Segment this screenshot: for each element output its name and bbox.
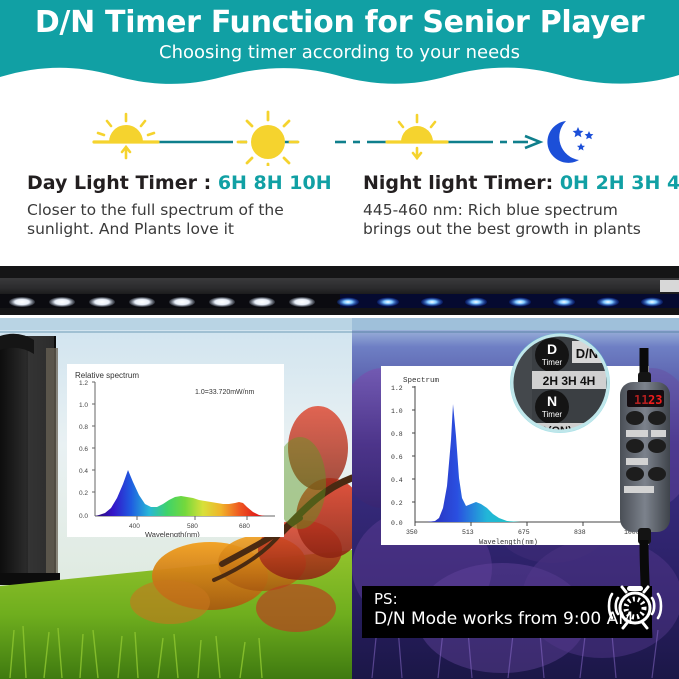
day-timer-heading: Day Light Timer : 6H 8H 10H bbox=[27, 172, 337, 194]
nightlight-aquarium-photo: Spectrum 1.2 1.0 0.8 0.6 0.4 0.2 0.0 bbox=[352, 318, 679, 679]
sun-icon bbox=[238, 112, 298, 166]
day-timer-description: Closer to the full spectrum of the sunli… bbox=[27, 201, 337, 240]
svg-text:0.2: 0.2 bbox=[79, 490, 88, 497]
d-timer-letter: D bbox=[547, 341, 557, 357]
hours-row-label: 2H 3H 4H bbox=[543, 374, 596, 388]
svg-text:838: 838 bbox=[574, 529, 586, 536]
sunset-icon bbox=[387, 115, 447, 158]
n-timer-sublabel: Timer bbox=[542, 410, 562, 419]
n-timer-letter: N bbox=[547, 393, 557, 409]
svg-text:0.0: 0.0 bbox=[79, 513, 88, 520]
x-axis-label: Wavelength(nm) bbox=[479, 539, 538, 545]
svg-text:1.2: 1.2 bbox=[79, 380, 88, 387]
night-timer-heading: Night light Timer: 0H 2H 3H 4H bbox=[363, 172, 668, 194]
night-timer-description: 445-460 nm: Rich blue spectrum brings ou… bbox=[363, 201, 668, 240]
d-timer-sublabel: Timer bbox=[542, 358, 562, 367]
page-title: D/N Timer Function for Senior Player bbox=[0, 5, 679, 40]
svg-text:0.2: 0.2 bbox=[391, 500, 403, 507]
night-timer-hours: 0H 2H 3H 4H bbox=[560, 172, 679, 194]
night-timer-label: Night light Timer: bbox=[363, 172, 560, 194]
night-timer-block: Night light Timer: 0H 2H 3H 4H 445-460 n… bbox=[363, 172, 668, 240]
day-timer-label: Day Light Timer : bbox=[27, 172, 218, 194]
brightness-up-button bbox=[648, 467, 666, 481]
moon-icon bbox=[547, 121, 593, 163]
page-subtitle: Choosing timer according to your needs bbox=[0, 42, 679, 63]
photo-comparison: Relative spectrum 1.0=33.720mW/nm 1.2 1.… bbox=[0, 318, 679, 679]
ps-label: PS: bbox=[374, 590, 398, 608]
led-light-bar bbox=[0, 266, 679, 318]
don-time-chip bbox=[624, 486, 654, 493]
power-button bbox=[626, 411, 644, 425]
svg-text:0.4: 0.4 bbox=[391, 477, 403, 484]
svg-text:350: 350 bbox=[406, 529, 418, 536]
svg-text:580: 580 bbox=[187, 523, 198, 530]
svg-text:1.0: 1.0 bbox=[79, 402, 88, 409]
wave-divider bbox=[0, 63, 679, 92]
svg-text:400: 400 bbox=[129, 523, 140, 530]
svg-text:675: 675 bbox=[518, 529, 530, 536]
day-timer-hours: 6H 8H 10H bbox=[218, 172, 332, 194]
svg-text:513: 513 bbox=[462, 529, 474, 536]
svg-text:1.0: 1.0 bbox=[391, 408, 403, 415]
svg-text:0.6: 0.6 bbox=[391, 454, 403, 461]
svg-text:0.8: 0.8 bbox=[391, 431, 403, 438]
timer-timeline bbox=[0, 100, 679, 166]
svg-text:0.4: 0.4 bbox=[79, 468, 88, 475]
infographic-page: D/N Timer Function for Senior Player Cho… bbox=[0, 0, 679, 679]
chart-title: Relative spectrum bbox=[75, 371, 139, 380]
svg-text:0.8: 0.8 bbox=[79, 424, 88, 431]
off-chip bbox=[651, 430, 666, 437]
controller-magnifier-callout: D Timer D/N 2H 3H 4H N Timer bbox=[508, 331, 612, 435]
header-banner: D/N Timer Function for Senior Player Cho… bbox=[0, 0, 679, 92]
svg-text:680: 680 bbox=[239, 523, 250, 530]
alarm-clock-icon bbox=[606, 580, 664, 632]
night-hours-chip bbox=[626, 458, 648, 465]
mode-button bbox=[648, 411, 666, 425]
24-7-button bbox=[648, 439, 666, 453]
chart-title: Spectrum bbox=[403, 377, 440, 385]
daylight-aquarium-photo: Relative spectrum 1.0=33.720mW/nm 1.2 1.… bbox=[0, 318, 352, 679]
chart-annotation: 1.0=33.720mW/nm bbox=[195, 389, 255, 396]
full-spectrum-chart: Relative spectrum 1.0=33.720mW/nm 1.2 1.… bbox=[67, 364, 284, 537]
display-prefix: 11 bbox=[634, 393, 648, 407]
full-spectrum-chart-card: Relative spectrum 1.0=33.720mW/nm 1.2 1.… bbox=[67, 364, 284, 537]
sunrise-icon bbox=[94, 114, 158, 158]
day-hours-chip bbox=[626, 430, 648, 437]
dn-button bbox=[626, 439, 644, 453]
svg-text:1.2: 1.2 bbox=[391, 385, 403, 392]
day-timer-block: Day Light Timer : 6H 8H 10H Closer to th… bbox=[27, 172, 337, 240]
svg-text:0.6: 0.6 bbox=[79, 446, 88, 453]
x-axis-label: Wavelength(nm) bbox=[145, 530, 200, 537]
svg-text:0.0: 0.0 bbox=[391, 520, 403, 527]
display-value: 23 bbox=[648, 393, 662, 407]
brightness-down-button bbox=[626, 467, 644, 481]
ps-text: D/N Mode works from 9:00 AM bbox=[374, 609, 633, 629]
